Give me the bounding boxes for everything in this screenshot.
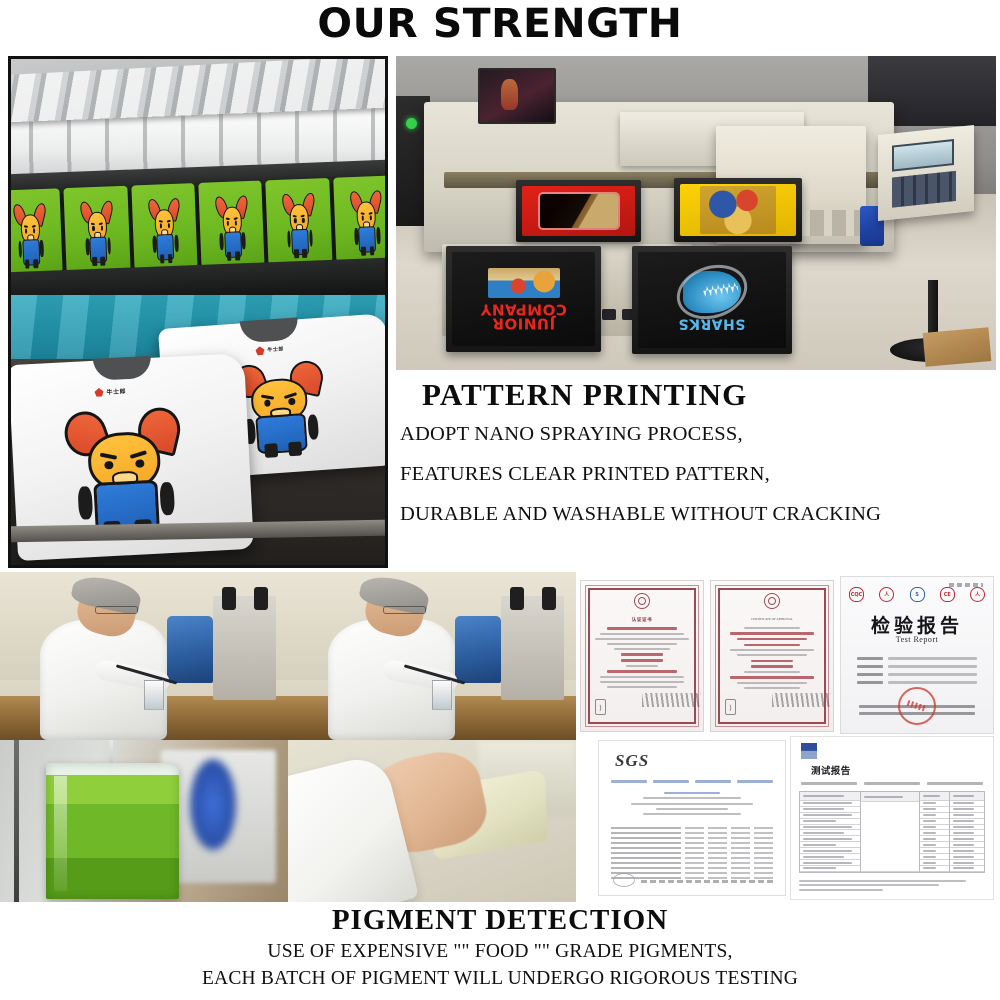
table-row — [611, 847, 773, 849]
tshirt-black-junior: JUNIOR COMPANY — [452, 252, 595, 346]
pigment-detection-line-1: USE OF EXPENSIVE "" FOOD "" GRADE PIGMEN… — [0, 939, 1000, 966]
cell — [611, 867, 681, 869]
table-column-method — [861, 792, 919, 872]
sample-vial — [432, 680, 452, 710]
sgs-logo: SGS — [615, 751, 649, 771]
cell — [611, 842, 681, 844]
bull-eye-left — [104, 460, 113, 469]
cell-text — [953, 808, 974, 810]
cell-text — [923, 850, 937, 852]
cqc-badge-icon: CQC — [849, 587, 864, 602]
pigment-detection-line-2: EACH BATCH OF PIGMENT WILL UNDERGO RIGOR… — [0, 966, 1000, 993]
cell — [754, 842, 773, 844]
text-line — [744, 671, 800, 673]
cell — [685, 832, 704, 834]
meta-field — [864, 782, 920, 784]
text-line — [626, 665, 659, 667]
cell-text — [803, 838, 852, 840]
bull-eye-left — [361, 216, 363, 221]
bull-arm-left — [153, 236, 157, 253]
cell — [685, 852, 704, 854]
safety-glasses — [95, 606, 138, 614]
certificate-body-text: CERTIFICATE OF APPROVAL — [725, 617, 819, 692]
cell — [754, 837, 773, 839]
bull-logo-icon — [255, 346, 265, 356]
pattern-printing-text-block: PATTERN PRINTING ADOPT NANO SPRAYING PRO… — [400, 376, 996, 556]
table-column-item — [800, 792, 861, 872]
meta-field — [801, 782, 857, 784]
cell — [708, 827, 727, 829]
table-cell — [800, 866, 860, 872]
cell — [685, 857, 704, 859]
report-field-row — [857, 665, 977, 668]
certification-badges: CQC 人 S CE 人 — [849, 587, 985, 602]
company-line — [737, 638, 808, 641]
certificate-signature — [772, 693, 831, 707]
bull-mascot-print — [238, 358, 322, 457]
bull-brow-right — [233, 217, 238, 220]
footnote-line — [799, 889, 883, 891]
bull-brow-right — [99, 222, 104, 225]
bull-brow-right — [301, 214, 306, 217]
section-heading — [664, 792, 721, 794]
platen-yellow-shirt — [674, 178, 802, 242]
report-field-row — [857, 657, 977, 660]
report-fields — [857, 657, 977, 689]
text-line — [643, 813, 740, 815]
cell — [611, 852, 681, 854]
lab-apparatus-stand — [501, 596, 564, 700]
cell-text — [803, 802, 852, 804]
printer-main-body — [424, 102, 894, 252]
pattern-printing-line-2: FEATURES CLEAR PRINTED PATTERN, — [400, 455, 996, 495]
printer-touchscreen-monitor — [478, 68, 556, 124]
print-label-sharks: SHARKS — [678, 316, 745, 329]
company-line — [730, 632, 815, 635]
cell-text — [923, 814, 937, 816]
panel-bolt — [602, 309, 616, 320]
green-shirt — [11, 188, 63, 278]
sgs-results-table — [611, 827, 773, 867]
shirt-collar — [93, 356, 152, 381]
text-line — [607, 670, 678, 673]
cell-text — [803, 814, 852, 816]
text-line — [656, 808, 729, 810]
meta-field — [611, 780, 647, 783]
cell — [611, 857, 681, 859]
cell — [754, 847, 773, 849]
lab-blue-equipment — [455, 616, 501, 683]
text-line — [730, 649, 815, 651]
certificates-area: 认证证书 ⟩ CERTIFICATE OF APPRO — [576, 572, 1000, 902]
bull-leg-right — [302, 248, 307, 257]
field-label — [857, 665, 883, 668]
bull-brow-left — [293, 215, 298, 218]
bull-leg-left — [227, 251, 232, 260]
test-results-table — [799, 791, 985, 873]
bull-arm-right — [309, 230, 313, 247]
text-line — [737, 654, 808, 656]
cell-text — [803, 867, 836, 869]
field-value — [888, 681, 977, 684]
table-row — [611, 827, 773, 829]
field-value — [888, 665, 977, 668]
bull-leg-right — [168, 254, 173, 263]
cell — [754, 857, 773, 859]
table-column-result — [950, 792, 984, 872]
bull-leg-right — [370, 246, 375, 255]
photo-green-pigment-beaker — [0, 740, 288, 902]
bull-eye-left — [264, 400, 271, 407]
meta-field — [695, 780, 731, 783]
bull-leg-right — [235, 251, 240, 260]
certificate-iso-english: CERTIFICATE OF APPROVAL ⟩ — [710, 580, 834, 732]
tshirt-red — [522, 186, 635, 236]
cell-text — [953, 826, 974, 828]
print-design-cartoon-scene — [488, 268, 560, 298]
photo-conveyor-printing-line: 牛士郎 — [8, 56, 388, 568]
cell — [708, 857, 727, 859]
text-line — [595, 638, 689, 640]
certificate-title: CERTIFICATE OF APPROVAL — [725, 617, 819, 621]
cell-text — [923, 808, 937, 810]
standard-line — [751, 660, 793, 663]
cell — [731, 847, 750, 849]
cell-text — [953, 802, 974, 804]
cell — [685, 827, 704, 829]
text-line — [600, 633, 685, 635]
sgs-summary-block — [611, 789, 773, 818]
bull-brow-right — [130, 450, 147, 459]
cell — [685, 872, 704, 874]
cell — [754, 827, 773, 829]
bull-leg-left — [361, 246, 366, 255]
text-line — [607, 643, 678, 645]
certificate-sgs-report: SGS — [598, 740, 786, 896]
beaker-with-green-pigment — [46, 763, 178, 899]
safety-glasses — [383, 606, 426, 614]
standard-line — [621, 659, 663, 662]
cell — [731, 862, 750, 864]
lab-logo-icon — [801, 743, 817, 759]
cell-text — [923, 820, 937, 822]
certificate-chinese-test-report: 测试报告 — [790, 736, 994, 900]
footnote-line — [799, 884, 939, 886]
header-text — [864, 796, 903, 798]
infographic-page: OUR STRENGTH — [0, 0, 1000, 1000]
cell-text — [953, 867, 974, 869]
cell — [611, 862, 681, 864]
sgs-meta-row — [611, 777, 773, 786]
cell — [685, 842, 704, 844]
cell — [708, 877, 727, 879]
brand-name-cn: 牛士郎 — [267, 346, 284, 354]
text-line — [744, 687, 800, 689]
brand-logo-mark: 牛士郎 — [94, 387, 126, 398]
cell-text — [923, 856, 937, 858]
ce-badge-icon: CE — [940, 587, 955, 602]
cell-text — [803, 820, 836, 822]
bull-eye-left — [227, 221, 229, 226]
cell — [708, 847, 727, 849]
bull-leg-left — [160, 254, 165, 263]
print-design-eagle — [540, 194, 618, 228]
footnote-line — [799, 880, 966, 882]
cell-text — [803, 856, 844, 858]
field-label — [857, 681, 883, 684]
cell-text — [953, 844, 974, 846]
cell — [708, 852, 727, 854]
platen-black-shirt-sharks: SHARKS — [632, 246, 792, 354]
green-shirt — [333, 175, 385, 265]
cell-text — [803, 844, 836, 846]
cell — [731, 842, 750, 844]
sample-vial — [144, 680, 164, 710]
cell-text — [923, 844, 937, 846]
certificate-signature — [642, 693, 701, 707]
page-header: OUR STRENGTH — [0, 0, 1000, 48]
print-design-shark-mascot — [683, 271, 741, 313]
shirt-collar — [240, 317, 299, 343]
bull-brow-right — [166, 219, 171, 222]
bull-eye-right — [235, 221, 237, 226]
cell-text — [923, 826, 937, 828]
bull-mascot-print — [352, 188, 381, 254]
background-blue-equipment — [190, 759, 236, 850]
brand-logo-mark: 牛士郎 — [255, 345, 284, 356]
cell — [754, 877, 773, 879]
cell-text — [953, 850, 974, 852]
field-label — [857, 657, 883, 660]
bull-eye-right — [302, 218, 304, 223]
bull-mascot-print — [72, 404, 178, 538]
meta-field — [737, 780, 773, 783]
bull-brow-left — [360, 212, 365, 215]
console-keypad — [892, 171, 956, 208]
bull-eye-right — [33, 228, 35, 233]
report-title-en: Test Report — [841, 635, 993, 644]
cell-text — [923, 832, 937, 834]
cell-text — [803, 862, 852, 864]
company-line — [744, 644, 800, 647]
photo-fabric-inspection — [288, 740, 576, 902]
bull-arm-left — [354, 228, 358, 245]
bull-brow-left — [260, 394, 274, 399]
pigment-detection-title: PIGMENT DETECTION — [0, 902, 1000, 939]
cell — [708, 842, 727, 844]
print-design-character — [700, 186, 776, 234]
table-column-limit — [920, 792, 950, 872]
cell — [611, 847, 681, 849]
bull-brow-left — [24, 225, 29, 228]
photo-lab-technician-left — [0, 572, 288, 740]
cell — [708, 872, 727, 874]
cell — [685, 862, 704, 864]
cell-text — [953, 832, 974, 834]
cell — [731, 832, 750, 834]
cell — [708, 837, 727, 839]
cell — [611, 832, 681, 834]
text-line — [607, 686, 678, 688]
table-row — [611, 852, 773, 854]
bull-eye-left — [25, 229, 27, 234]
cell — [685, 847, 704, 849]
certificate-accreditation-badge: ⟩ — [595, 699, 606, 715]
text-line — [600, 681, 685, 683]
cell — [731, 857, 750, 859]
bull-leg-right — [33, 259, 38, 268]
table-row — [611, 837, 773, 839]
certificate-seal-icon — [634, 593, 650, 609]
certificate-body-text: 认证证书 — [595, 617, 689, 691]
lab-blue-equipment — [167, 616, 213, 683]
cell-text — [923, 802, 937, 804]
bull-mascot-print — [285, 191, 314, 257]
column-header — [950, 792, 984, 801]
bull-arm-left — [78, 486, 94, 520]
bull-mascot-print — [150, 196, 179, 262]
lab-apparatus-stand — [213, 596, 276, 700]
text-line — [600, 676, 685, 678]
cell — [731, 852, 750, 854]
cell — [731, 877, 750, 879]
table-cell-merged — [861, 802, 918, 872]
green-shirt — [64, 186, 131, 276]
header-text — [953, 795, 974, 797]
scope-line — [730, 676, 815, 679]
bull-leg-left — [92, 257, 97, 266]
official-red-stamp — [898, 687, 936, 725]
console-lcd-screen — [892, 139, 954, 172]
stand-rod — [14, 740, 19, 902]
cell — [708, 862, 727, 864]
cell — [731, 872, 750, 874]
cell-text — [953, 814, 974, 816]
tshirt-black-sharks: SHARKS — [638, 252, 786, 348]
cell — [685, 867, 704, 869]
photo-uv-flatbed-printer: JUNIOR COMPANY SHARKS — [396, 56, 996, 370]
report-title: 测试报告 — [811, 763, 851, 777]
bull-arm-right — [174, 235, 178, 252]
table-row — [611, 832, 773, 834]
printer-control-console — [878, 125, 974, 221]
photo-lab-technician-right — [288, 572, 576, 740]
bull-eye-right — [168, 223, 170, 228]
cardboard-box — [923, 327, 992, 367]
pattern-printing-title: PATTERN PRINTING — [400, 376, 996, 415]
field-label — [857, 673, 883, 676]
bull-eye-right — [100, 226, 102, 231]
table-row — [611, 862, 773, 864]
bull-arm-right — [40, 240, 44, 257]
iso-badge-icon: 人 — [970, 587, 985, 602]
text-line — [737, 682, 808, 684]
platen-black-shirt-junior: JUNIOR COMPANY — [446, 246, 601, 352]
cell-text — [803, 850, 852, 852]
sgs-badge-icon: S — [910, 587, 925, 602]
bull-arm-right — [159, 481, 175, 515]
meta-field — [653, 780, 689, 783]
standard-line — [751, 665, 793, 668]
cell-text — [953, 856, 974, 858]
text-line — [643, 797, 740, 799]
report-title-cn: 检验报告 — [841, 611, 993, 638]
pigment-detection-text-block: PIGMENT DETECTION USE OF EXPENSIVE "" FO… — [0, 902, 1000, 1000]
column-header — [920, 792, 949, 801]
brand-name-cn: 牛士郎 — [106, 387, 126, 397]
pattern-printing-line-1: ADOPT NANO SPRAYING PROCESS, — [400, 415, 996, 455]
conveyor-scene: 牛士郎 — [11, 59, 385, 565]
table-cell — [920, 866, 949, 872]
cell-text — [803, 808, 844, 810]
bull-eye-left — [92, 226, 94, 231]
bull-mascot-print — [83, 199, 112, 265]
table-row — [611, 857, 773, 859]
cell — [611, 827, 681, 829]
text-line — [607, 627, 678, 630]
platen-red-shirt — [516, 180, 641, 242]
field-value — [888, 657, 977, 660]
table-row — [611, 872, 773, 874]
bull-arm-right — [107, 238, 111, 255]
cell — [754, 872, 773, 874]
bull-eye-right — [369, 215, 371, 220]
sgs-seal-icon — [613, 873, 635, 887]
bull-leg-right — [288, 442, 302, 456]
header-text — [923, 795, 940, 797]
bull-leg-left — [25, 259, 30, 268]
cell — [731, 867, 750, 869]
cell — [754, 862, 773, 864]
cell-text — [803, 832, 844, 834]
sgs-footer-text — [641, 880, 773, 883]
bull-brow-left — [226, 217, 231, 220]
column-header — [861, 792, 918, 802]
bull-mascot-print — [16, 201, 45, 267]
bull-leg-left — [264, 444, 278, 458]
cell — [754, 852, 773, 854]
green-shirt — [131, 183, 198, 273]
bull-eye-left — [294, 218, 296, 223]
report-meta-row — [801, 779, 983, 788]
cell-text — [923, 867, 937, 869]
column-header — [800, 792, 860, 801]
bull-arm-right — [376, 227, 380, 244]
bull-leg-right — [101, 256, 106, 265]
ccc-badge-icon: 人 — [879, 587, 894, 602]
bull-eye-left — [160, 224, 162, 229]
cell-text — [953, 820, 974, 822]
certificate-iso-chinese: 认证证书 ⟩ — [580, 580, 704, 732]
bull-eye-right — [288, 398, 295, 405]
meta-field — [927, 782, 983, 784]
certificate-inspection-report: CQC 人 S CE 人 检验报告 Test Report — [840, 576, 994, 734]
cell-text — [953, 862, 974, 864]
cell-text — [953, 838, 974, 840]
cell — [731, 837, 750, 839]
print-label-junior-company: JUNIOR COMPANY — [452, 302, 595, 331]
cell — [708, 832, 727, 834]
cell — [754, 867, 773, 869]
text-line — [744, 627, 800, 629]
table-row — [611, 867, 773, 869]
report-field-row — [857, 681, 977, 684]
header-text — [803, 795, 844, 797]
cell — [731, 827, 750, 829]
certificate-title: 认证证书 — [595, 617, 689, 623]
tshirt-yellow — [680, 184, 796, 236]
green-shirt — [266, 178, 333, 268]
